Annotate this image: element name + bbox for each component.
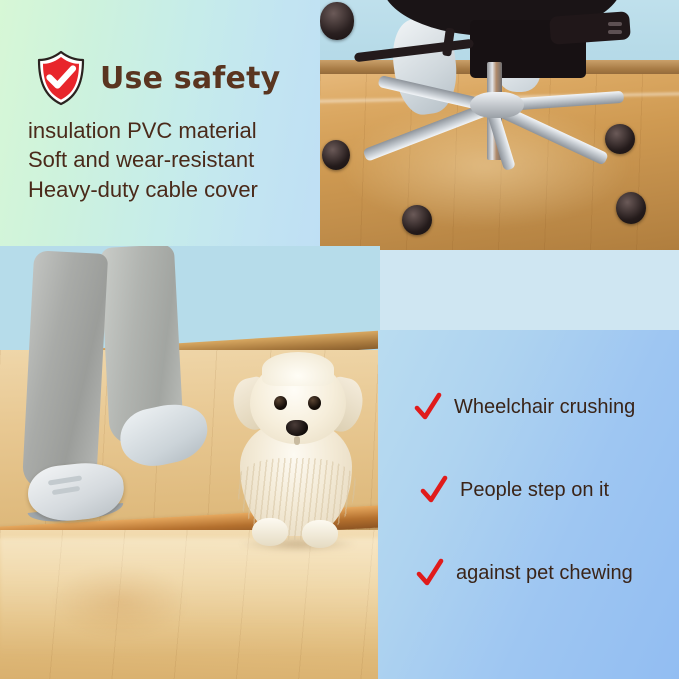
- use-safety-panel: Use safety insulation PVC material Soft …: [0, 0, 320, 246]
- feature-line: Soft and wear-resistant: [28, 145, 258, 174]
- product-infographic: Use safety insulation PVC material Soft …: [0, 0, 679, 679]
- use-safety-title: Use safety: [100, 61, 280, 96]
- chair-caster: [402, 205, 432, 235]
- floor-gloss: [0, 538, 380, 658]
- bullet-item: People step on it: [420, 475, 609, 505]
- bullet-item: against pet chewing: [416, 558, 633, 588]
- dog-eye-left: [274, 396, 287, 410]
- chair-armrest-right: [549, 11, 631, 45]
- chair-base-hub: [470, 92, 524, 118]
- bullet-label: against pet chewing: [456, 562, 633, 585]
- check-icon: [414, 392, 442, 422]
- dog-mouth: [294, 436, 300, 445]
- dog-eye-right: [308, 396, 321, 410]
- use-safety-feature-list: insulation PVC material Soft and wear-re…: [28, 116, 258, 204]
- dog: [228, 354, 368, 554]
- bullet-label: Wheelchair crushing: [454, 396, 635, 419]
- chair-lever-upper: [608, 22, 622, 26]
- protection-bullets-panel: Wheelchair crushing People step on it ag…: [378, 330, 679, 679]
- dog-paw-right: [302, 520, 338, 548]
- chair-caster: [605, 124, 635, 154]
- bullet-label: People step on it: [460, 479, 609, 502]
- feature-line: insulation PVC material: [28, 116, 258, 145]
- dog-head-fur: [262, 352, 334, 386]
- dog-nose: [286, 420, 308, 436]
- bullet-item: Wheelchair crushing: [414, 392, 635, 422]
- check-icon: [416, 558, 444, 588]
- chair-caster: [322, 140, 350, 170]
- shield-check-icon: [36, 50, 86, 106]
- check-icon: [420, 475, 448, 505]
- chair-caster: [616, 192, 646, 224]
- office-chair-on-wood-floor-photo: [320, 0, 679, 250]
- person-and-dog-on-wood-floor-photo: [0, 246, 380, 679]
- chair-caster: [320, 2, 354, 40]
- use-safety-heading: Use safety: [36, 50, 280, 106]
- person-leg-left: [22, 250, 108, 492]
- feature-line: Heavy-duty cable cover: [28, 175, 258, 204]
- dog-paw-left: [252, 518, 288, 546]
- chair-lever-lower: [608, 30, 622, 34]
